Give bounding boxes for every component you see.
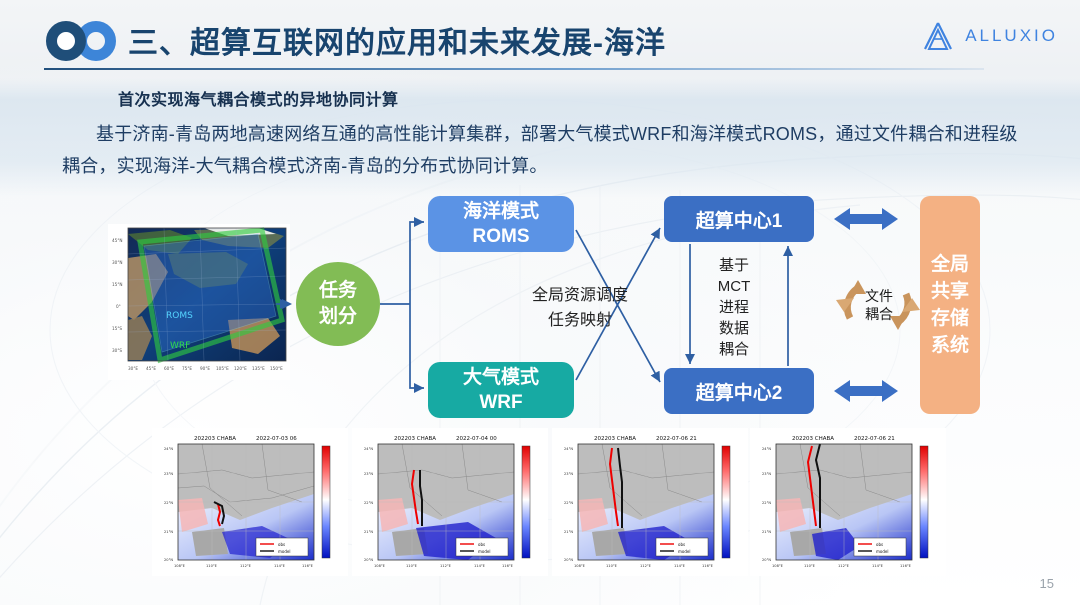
svg-text:23°N: 23°N: [564, 472, 573, 476]
label-global-scheduling: 全局资源调度 任务映射: [490, 283, 670, 333]
diagram-node-task[interactable]: 任务 划分: [296, 262, 380, 346]
svg-text:24°N: 24°N: [164, 447, 173, 451]
svg-text:22°N: 22°N: [364, 501, 373, 505]
svg-text:20°N: 20°N: [364, 558, 373, 562]
diagram-node-wrf[interactable]: 大气模式 WRF: [428, 362, 574, 418]
label-file-coupling-line1: 文件: [849, 287, 909, 305]
svg-text:112°E: 112°E: [838, 564, 850, 568]
label-scheduling-line1: 全局资源调度: [490, 283, 670, 308]
svg-text:22°N: 22°N: [164, 501, 173, 505]
svg-text:23°N: 23°N: [762, 472, 771, 476]
panel-storm-id: 202203 CHABA: [792, 436, 834, 442]
svg-text:21°N: 21°N: [364, 530, 373, 534]
double-arrow-icon-top: [834, 206, 898, 232]
node-storage-line2: 共享: [931, 278, 969, 305]
panel-datetime: 2022-07-03 06: [256, 436, 297, 442]
svg-text:22°N: 22°N: [564, 501, 573, 505]
svg-text:23°N: 23°N: [164, 472, 173, 476]
panel-datetime: 2022-07-06 21: [656, 436, 697, 442]
legend-model: model: [478, 549, 490, 554]
svg-text:110°E: 110°E: [606, 564, 618, 568]
svg-text:20°N: 20°N: [164, 558, 173, 562]
svg-text:21°N: 21°N: [164, 530, 173, 534]
svg-text:24°N: 24°N: [762, 447, 771, 451]
svg-text:114°E: 114°E: [872, 564, 884, 568]
typhoon-panel-0: 202203 CHABA 2022-07-03 06 24°N23°N22°N …: [152, 428, 348, 576]
svg-text:108°E: 108°E: [374, 564, 386, 568]
typhoon-panel-row: 202203 CHABA 2022-07-03 06 24°N23°N22°N …: [152, 428, 952, 578]
legend-obs: obs: [876, 542, 883, 547]
legend-model: model: [876, 549, 888, 554]
svg-text:22°N: 22°N: [762, 501, 771, 505]
panel-storm-id: 202203 CHABA: [194, 436, 236, 442]
node-storage-line4: 系统: [931, 332, 969, 359]
panel-datetime: 2022-07-06 21: [854, 436, 895, 442]
label-mct-coupling: 基于 MCT 进程 数据 耦合: [705, 255, 763, 360]
svg-text:20°N: 20°N: [564, 558, 573, 562]
legend-obs: obs: [678, 542, 685, 547]
diagram-node-roms[interactable]: 海洋模式 ROMS: [428, 196, 574, 252]
svg-text:21°N: 21°N: [564, 530, 573, 534]
typhoon-panel-3: 202203 CHABA 2022-07-06 21 24°N23°N22°N …: [750, 428, 946, 576]
label-file-coupling: 文件 耦合: [849, 287, 909, 323]
svg-text:112°E: 112°E: [640, 564, 652, 568]
diagram-node-supercomputer-2[interactable]: 超算中心2: [664, 368, 814, 414]
panel-storm-id: 202203 CHABA: [394, 436, 436, 442]
node-sc1-label: 超算中心1: [696, 206, 783, 233]
node-sc2-label: 超算中心2: [696, 378, 783, 405]
svg-text:116°E: 116°E: [900, 564, 912, 568]
svg-text:20°N: 20°N: [762, 558, 771, 562]
double-arrow-icon-bottom: [834, 378, 898, 404]
svg-text:108°E: 108°E: [174, 564, 186, 568]
diagram-node-global-storage[interactable]: 全局 共享 存储 系统: [920, 196, 980, 414]
node-storage-line1: 全局: [931, 251, 969, 278]
label-scheduling-line2: 任务映射: [490, 308, 670, 333]
node-wrf-line2: WRF: [479, 390, 522, 415]
legend-obs: obs: [478, 542, 485, 547]
node-wrf-line1: 大气模式: [463, 365, 539, 390]
svg-text:114°E: 114°E: [274, 564, 286, 568]
label-file-coupling-line2: 耦合: [849, 305, 909, 323]
legend-obs: obs: [278, 542, 285, 547]
node-task-line2: 划分: [319, 304, 357, 330]
svg-text:21°N: 21°N: [762, 530, 771, 534]
legend-model: model: [278, 549, 290, 554]
svg-text:110°E: 110°E: [804, 564, 816, 568]
node-roms-line2: ROMS: [473, 224, 530, 249]
svg-text:116°E: 116°E: [702, 564, 714, 568]
panel-datetime: 2022-07-04 00: [456, 436, 497, 442]
svg-text:112°E: 112°E: [440, 564, 452, 568]
svg-text:110°E: 110°E: [206, 564, 218, 568]
slide-canvas: 三、超算互联网的应用和未来发展-海洋 ALLUXIO 首次实现海气耦合模式的异地…: [0, 0, 1080, 605]
panel-storm-id: 202203 CHABA: [594, 436, 636, 442]
svg-text:24°N: 24°N: [364, 447, 373, 451]
svg-text:108°E: 108°E: [772, 564, 784, 568]
svg-text:116°E: 116°E: [502, 564, 514, 568]
diagram-node-supercomputer-1[interactable]: 超算中心1: [664, 196, 814, 242]
node-roms-line1: 海洋模式: [463, 199, 539, 224]
svg-text:23°N: 23°N: [364, 472, 373, 476]
node-task-line1: 任务: [319, 278, 357, 304]
svg-text:116°E: 116°E: [302, 564, 314, 568]
typhoon-panel-2: 202203 CHABA 2022-07-06 21 24°N23°N22°N …: [552, 428, 748, 576]
svg-text:112°E: 112°E: [240, 564, 252, 568]
svg-text:114°E: 114°E: [474, 564, 486, 568]
svg-text:110°E: 110°E: [406, 564, 418, 568]
svg-text:108°E: 108°E: [574, 564, 586, 568]
typhoon-panel-1: 202203 CHABA 2022-07-04 00 24°N23°N22°N …: [352, 428, 548, 576]
legend-model: model: [678, 549, 690, 554]
svg-text:114°E: 114°E: [674, 564, 686, 568]
node-storage-line3: 存储: [931, 305, 969, 332]
page-number: 15: [1040, 576, 1054, 591]
svg-text:24°N: 24°N: [564, 447, 573, 451]
